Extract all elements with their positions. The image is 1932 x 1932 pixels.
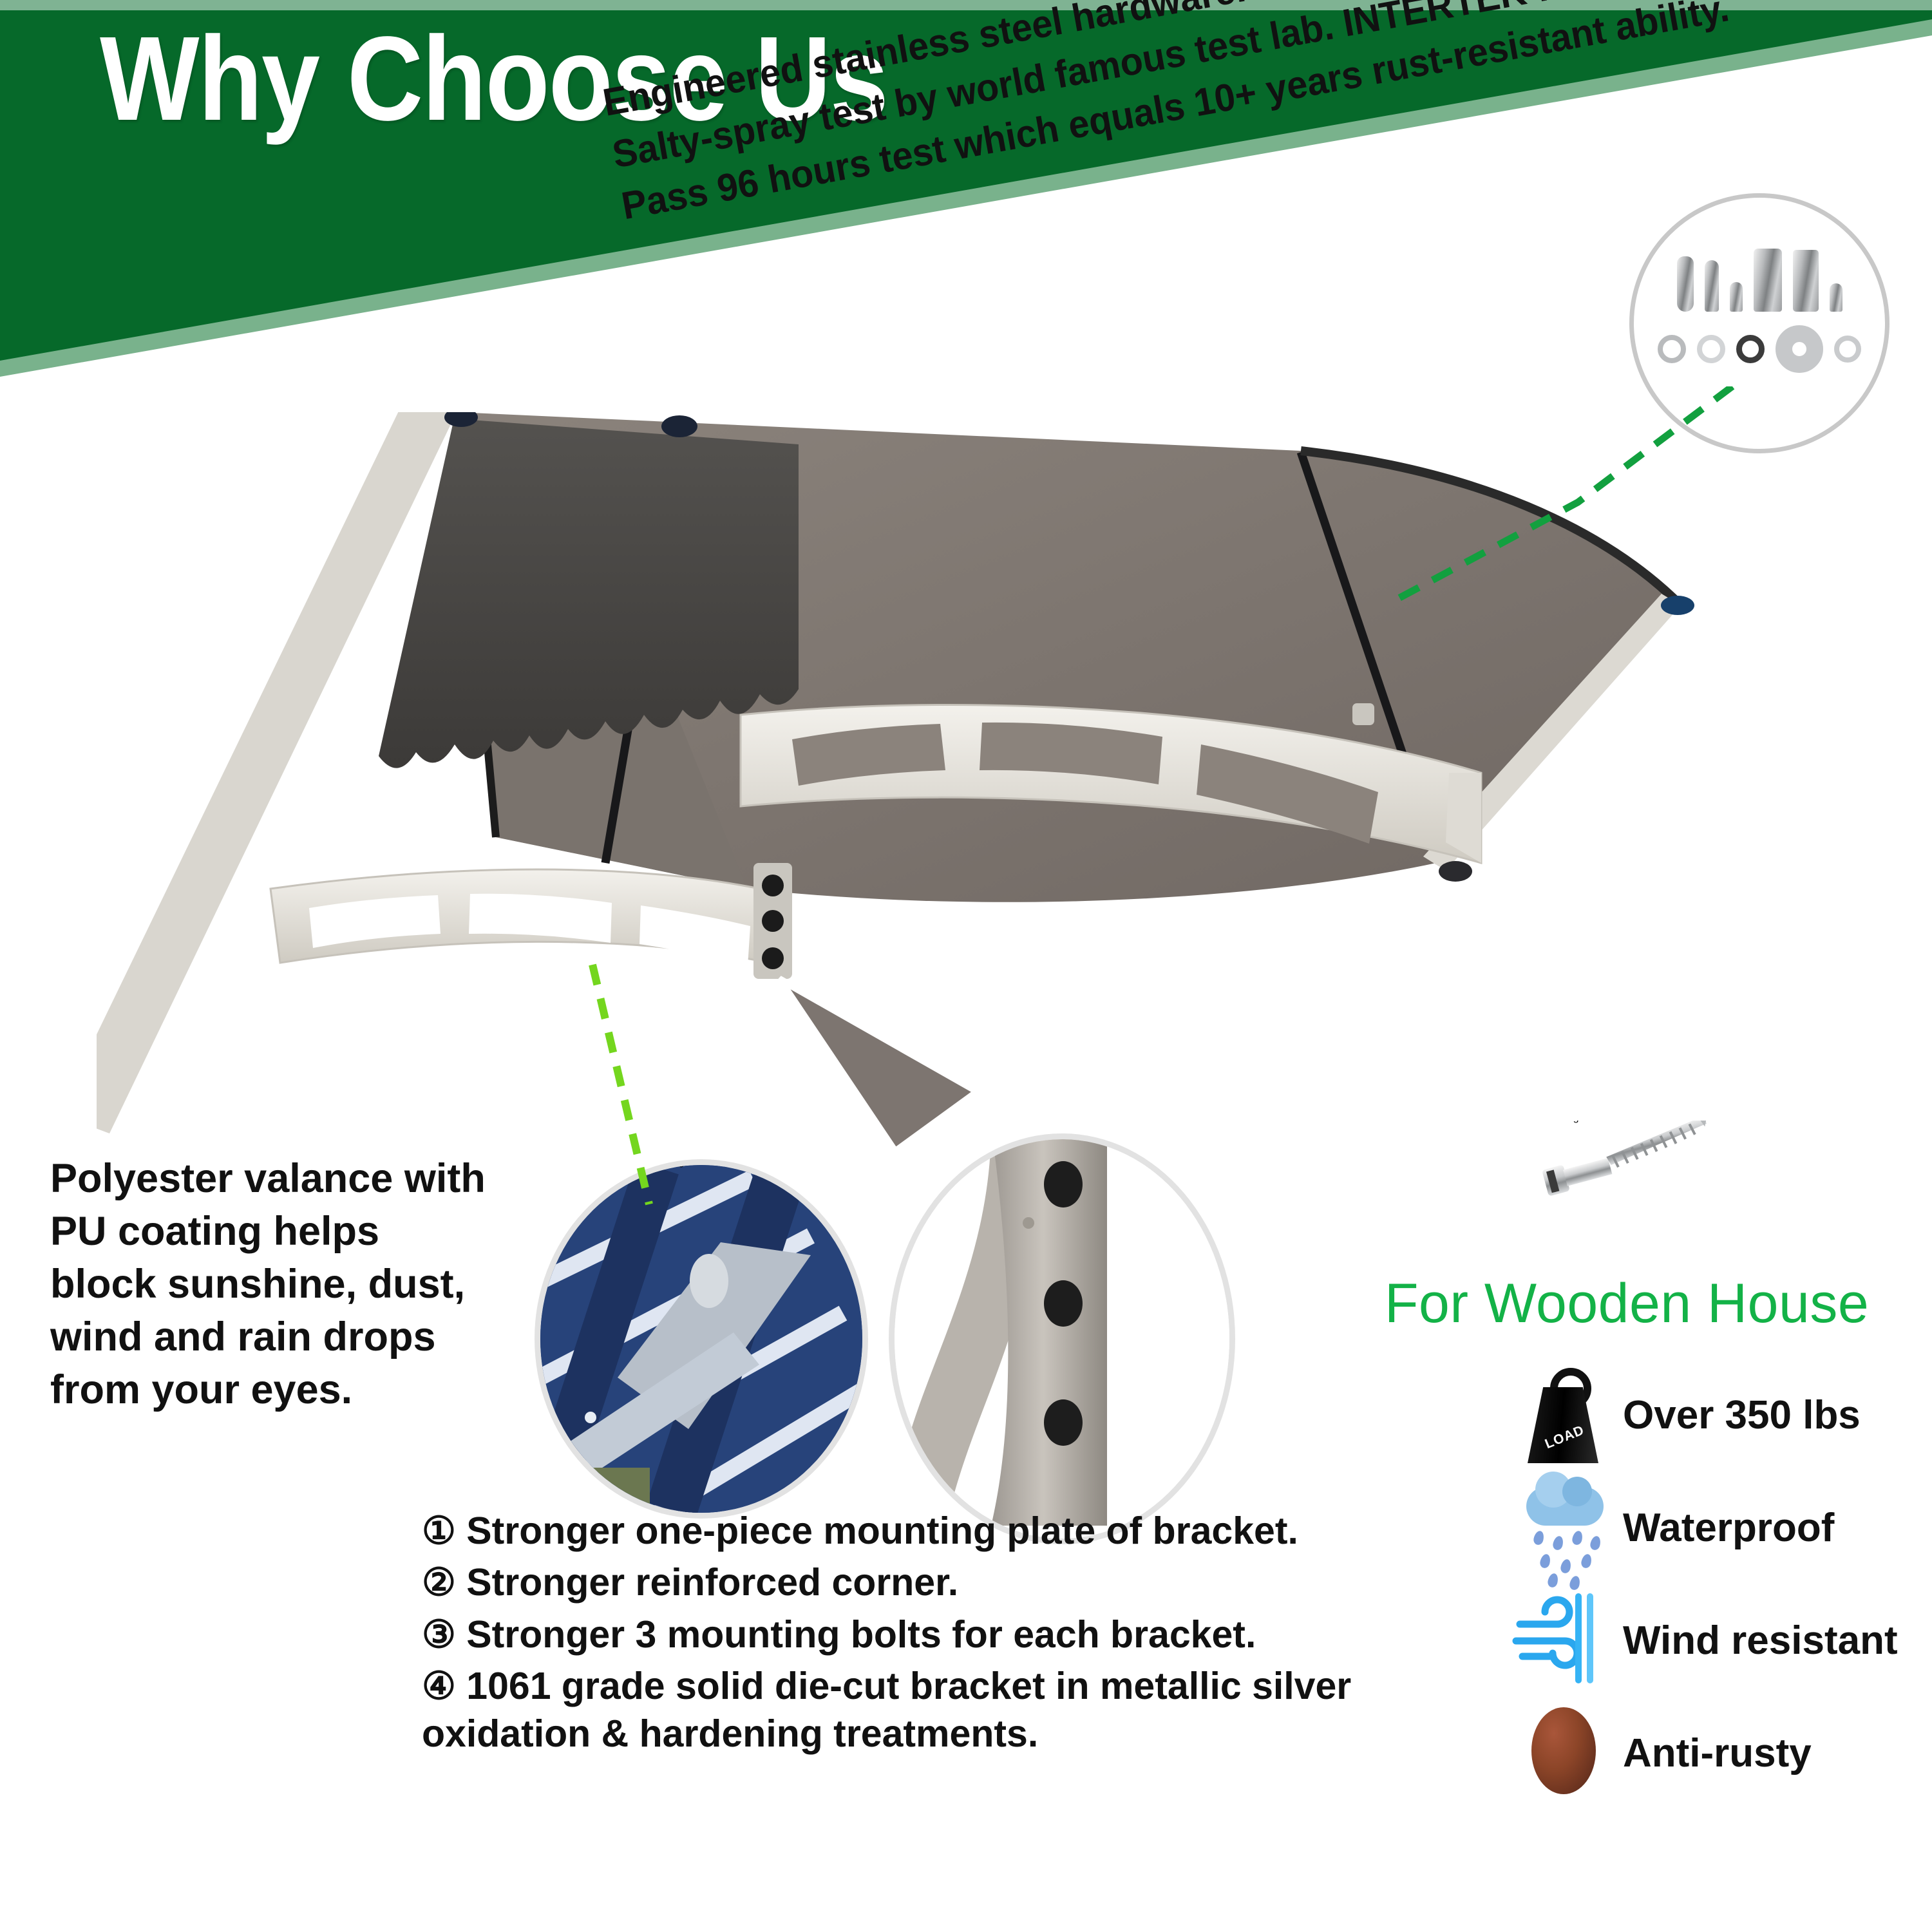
feature-list: LOAD Over 350 lbs Waterproof [1501, 1359, 1913, 1810]
mounting-bolt [762, 910, 784, 932]
list-item: ② Stronger reinforced corner. [422, 1558, 1356, 1606]
knurled-knob-icon [1754, 249, 1782, 312]
large-washer-icon [1776, 325, 1823, 373]
feature-label: Anti-rusty [1623, 1730, 1812, 1776]
cap-nut-icon [1830, 283, 1842, 312]
rust-sphere [1531, 1707, 1596, 1794]
canopy-back-rail [97, 412, 457, 1133]
wind-bar [1575, 1593, 1582, 1683]
rain-drop [1560, 1558, 1573, 1575]
feature-row-wind: Wind resistant [1501, 1584, 1913, 1697]
feature-row-waterproof: Waterproof [1501, 1472, 1913, 1584]
machine-screw-icon [1705, 260, 1719, 312]
rivet [1023, 1217, 1034, 1229]
rust-ball-icon [1501, 1697, 1623, 1810]
cloud-shape [1526, 1487, 1604, 1526]
washer-icon [1658, 335, 1686, 363]
screw-shank [1563, 1158, 1612, 1186]
feature-row-antirusty: Anti-rusty [1501, 1697, 1913, 1810]
washer-icon [1697, 335, 1725, 363]
corner-fitting [661, 415, 697, 437]
mounting-bolt [1044, 1399, 1083, 1446]
washer-icon [1834, 336, 1861, 363]
leader-line-hardware [1385, 386, 1771, 657]
wooden-house-title: For Wooden House [1385, 1272, 1869, 1336]
rain-drop [1539, 1553, 1552, 1569]
wind-bar [1587, 1593, 1593, 1683]
detail-circle-railing-mount: bracket mounted on blue railing [535, 1159, 868, 1519]
list-item: ① Stronger one-piece mounting plate of b… [422, 1507, 1356, 1555]
rain-cloud-icon [1501, 1472, 1623, 1584]
feature-row-load: LOAD Over 350 lbs [1501, 1359, 1913, 1472]
mounting-bolt [762, 875, 784, 896]
callout-cone [779, 979, 978, 1151]
hardware-washers-row [1634, 330, 1885, 368]
leader-line-valance [567, 960, 734, 1211]
rain-drop [1580, 1553, 1593, 1569]
corner-fitting [1439, 861, 1472, 882]
rivet [585, 1412, 596, 1423]
weight-load-icon: LOAD [1501, 1359, 1623, 1472]
hardware-fasteners-row [1634, 238, 1885, 312]
rain-drop [1589, 1535, 1602, 1551]
screw-threads [1602, 1121, 1716, 1170]
rain-drop [1571, 1530, 1584, 1546]
nut-icon [1730, 282, 1743, 312]
list-item: ③ Stronger 3 mounting bolts for each bra… [422, 1611, 1356, 1658]
lag-screw-icon: hex head lag screw [1520, 1121, 1726, 1198]
valance-description: Polyester valance with PU coating helps … [50, 1153, 488, 1416]
mounting-bolt [1044, 1280, 1083, 1327]
ground-blur [540, 1468, 650, 1513]
feature-label: Over 350 lbs [1623, 1392, 1861, 1438]
feature-label: Wind resistant [1623, 1618, 1898, 1663]
rubber-washer-icon [1736, 335, 1765, 363]
bolt-icon [1677, 256, 1694, 312]
rain-drop [1533, 1530, 1546, 1546]
mounting-bolt [762, 947, 784, 969]
mounting-bolt [1044, 1161, 1083, 1207]
thumb-screw-icon [1793, 250, 1819, 312]
canopy-bolt-head [1352, 703, 1374, 725]
bolt-head [690, 1254, 728, 1308]
feature-numbered-list: ① Stronger one-piece mounting plate of b… [422, 1507, 1356, 1762]
feature-label: Waterproof [1623, 1505, 1834, 1551]
list-item: ④ 1061 grade solid die-cut bracket in me… [422, 1662, 1356, 1758]
rain-drop [1552, 1535, 1565, 1551]
detail-circle-mounting-plate: one-piece mounting plate with three bolt… [889, 1133, 1235, 1544]
lag-screw-caption: hex head lag screw [1520, 1121, 1609, 1123]
wind-icon [1501, 1584, 1623, 1697]
